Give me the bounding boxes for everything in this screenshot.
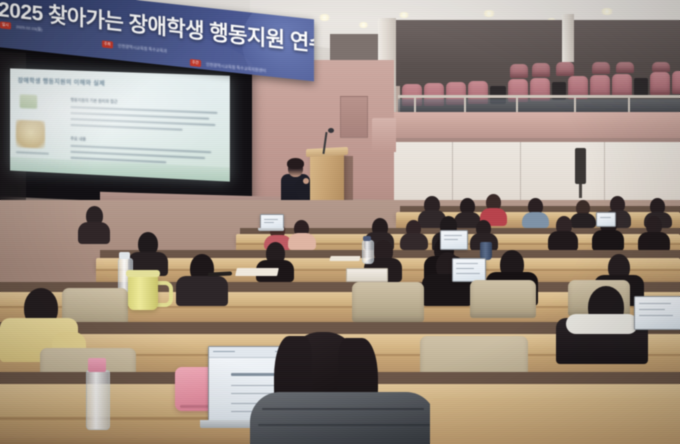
projected-slide: 장애학생 행동지원의 이해와 실제 행동지원의 기본 원리와 접근 주요 내용 bbox=[10, 68, 230, 181]
chair-back bbox=[470, 280, 536, 318]
downlight bbox=[600, 8, 614, 15]
wall-panel bbox=[372, 118, 396, 152]
desk-paper bbox=[329, 256, 360, 261]
laptop-text-line bbox=[264, 219, 278, 220]
theater-seat bbox=[510, 64, 528, 78]
wall-vent bbox=[340, 96, 368, 138]
puffer-quilt-line bbox=[262, 408, 424, 410]
laptop-text-line bbox=[639, 315, 673, 316]
attendee-torso bbox=[522, 212, 549, 228]
thermos bbox=[128, 274, 158, 310]
projector-glow bbox=[10, 68, 230, 181]
water-bottle bbox=[362, 240, 374, 264]
downlight bbox=[398, 12, 410, 18]
downlight bbox=[358, 22, 369, 28]
laptop bbox=[452, 258, 486, 282]
laptop bbox=[440, 230, 468, 250]
railing-handrail bbox=[398, 95, 680, 98]
presenter-hand bbox=[303, 178, 309, 184]
laptop-base bbox=[258, 228, 284, 231]
laptop-text-line bbox=[600, 217, 611, 218]
laptop bbox=[634, 296, 680, 330]
theater-seat bbox=[672, 71, 680, 94]
speaker-stem bbox=[579, 184, 582, 198]
laptop-text-line bbox=[444, 239, 458, 240]
attendee-torso bbox=[592, 230, 624, 251]
laptop bbox=[596, 212, 616, 227]
thermos-lid bbox=[126, 270, 160, 277]
auditorium-photograph: 장애학생 행동지원의 이해와 실제 행동지원의 기본 원리와 접근 주요 내용 … bbox=[0, 0, 680, 444]
laptop-text-line bbox=[639, 309, 665, 310]
wall-seam bbox=[520, 142, 521, 208]
theater-seat bbox=[556, 62, 574, 76]
attendee-torso bbox=[78, 222, 110, 244]
laptop-text-line bbox=[444, 235, 462, 236]
presenter-hair bbox=[287, 158, 304, 169]
puffer-quilt-line bbox=[258, 424, 430, 426]
theater-seat bbox=[532, 63, 550, 77]
attendee-torso bbox=[288, 233, 316, 250]
desk-nameplate bbox=[346, 268, 388, 282]
laptop-text-line bbox=[264, 222, 274, 223]
banner-date-badge: 일시 bbox=[0, 21, 11, 29]
attendee-torso bbox=[548, 231, 578, 251]
water-bottle bbox=[86, 370, 110, 430]
laptop-text-line bbox=[231, 373, 275, 376]
laptop-text-line bbox=[456, 273, 480, 274]
bottle-cap bbox=[119, 252, 130, 259]
theater-seat bbox=[616, 62, 634, 73]
banner-host-badge: 주최 bbox=[102, 40, 113, 48]
chair-back bbox=[352, 282, 424, 322]
bottle-cap bbox=[363, 236, 371, 241]
downlight bbox=[318, 14, 331, 21]
attendee-scarf bbox=[566, 314, 638, 334]
ceiling-pillar bbox=[562, 14, 574, 62]
bottle-cap bbox=[88, 358, 106, 372]
laptop-tab bbox=[213, 351, 235, 352]
microphone-icon bbox=[328, 128, 334, 133]
downlight bbox=[482, 10, 496, 17]
foreground-attendee-jacket bbox=[250, 392, 436, 444]
theater-seat bbox=[592, 62, 610, 74]
desk-paper bbox=[235, 268, 279, 276]
wall-seam bbox=[604, 142, 605, 202]
attendee-torso bbox=[400, 233, 428, 250]
attendee-torso bbox=[176, 276, 228, 306]
banner-org-badge: 주관 bbox=[190, 59, 201, 67]
laptop-text-line bbox=[456, 268, 474, 269]
attendee-torso bbox=[570, 213, 596, 228]
attendee-torso bbox=[638, 232, 670, 252]
foreground-attendee-right bbox=[430, 398, 680, 444]
laptop-text-line bbox=[456, 263, 478, 264]
laptop-text-line bbox=[639, 303, 671, 304]
wall-speaker bbox=[575, 148, 586, 184]
theater-seat bbox=[652, 62, 670, 72]
